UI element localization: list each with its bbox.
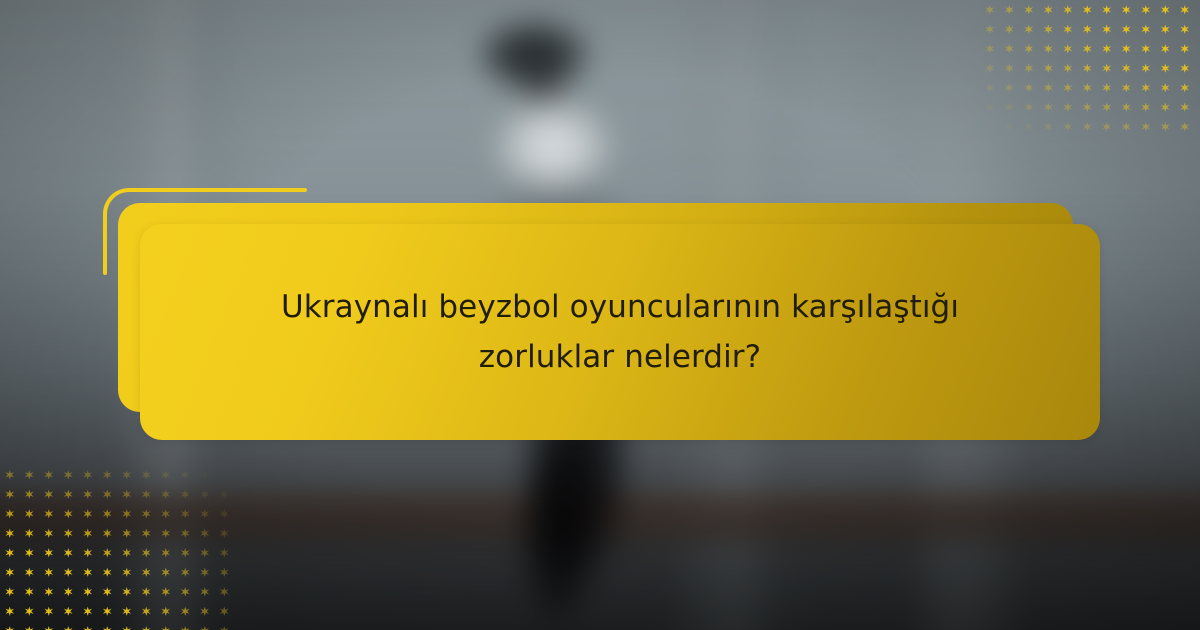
- question-text: Ukraynalı beyzbol oyuncularının karşılaş…: [170, 282, 1070, 382]
- question-card: Ukraynalı beyzbol oyuncularının karşılaş…: [140, 224, 1100, 440]
- social-card-image: Ukraynalı beyzbol oyuncularının karşılaş…: [0, 0, 1200, 630]
